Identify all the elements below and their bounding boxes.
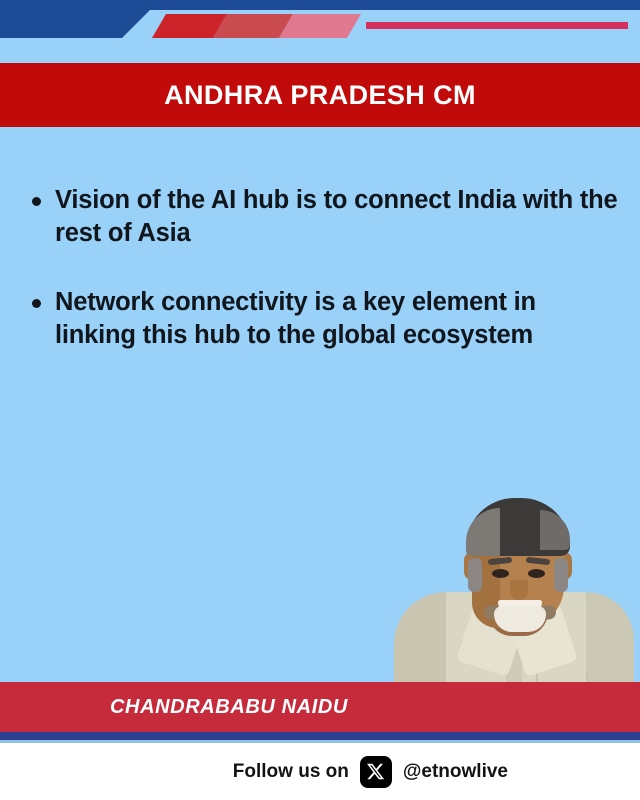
portrait-eye-right — [528, 569, 545, 578]
page-title: ANDHRA PRADESH CM — [164, 80, 476, 111]
portrait-nose — [510, 580, 528, 600]
bullet-dot-icon — [32, 299, 41, 308]
navy-underline — [0, 732, 640, 740]
portrait-sideburn-right — [554, 558, 568, 592]
bullet-text: Vision of the AI hub is to connect India… — [55, 184, 618, 250]
speaker-name: CHANDRABABU NAIDU — [0, 682, 640, 732]
list-item: Network connectivity is a key element in… — [24, 286, 618, 352]
deco-midred-slab — [213, 14, 293, 38]
portrait-goatee — [494, 606, 546, 632]
headline-banner: ANDHRA PRADESH CM — [0, 63, 640, 127]
deco-pink-slab — [279, 14, 361, 38]
follow-us-group: Follow us on @etnowlive — [233, 743, 508, 800]
bullet-text: Network connectivity is a key element in… — [55, 286, 618, 352]
portrait-sideburn-left — [468, 558, 482, 592]
x-twitter-icon[interactable] — [360, 756, 392, 788]
portrait-hair-grey-right — [540, 510, 570, 550]
footer-bar: Follow us on @etnowlive E T N O W — [0, 743, 640, 800]
list-item: Vision of the AI hub is to connect India… — [24, 184, 618, 250]
deco-pink-line — [366, 22, 628, 29]
portrait-hair-grey-left — [466, 508, 500, 556]
news-card: ANDHRA PRADESH CM Vision of the AI hub i… — [0, 0, 640, 800]
top-navy-strip — [0, 0, 640, 10]
deco-navy-block — [0, 10, 150, 38]
portrait-eye-left — [492, 569, 509, 578]
top-decoration-band — [0, 10, 640, 48]
follow-label: Follow us on — [233, 761, 349, 783]
bullet-dot-icon — [32, 197, 41, 206]
bullet-list: Vision of the AI hub is to connect India… — [0, 184, 640, 389]
social-handle[interactable]: @etnowlive — [403, 761, 508, 783]
